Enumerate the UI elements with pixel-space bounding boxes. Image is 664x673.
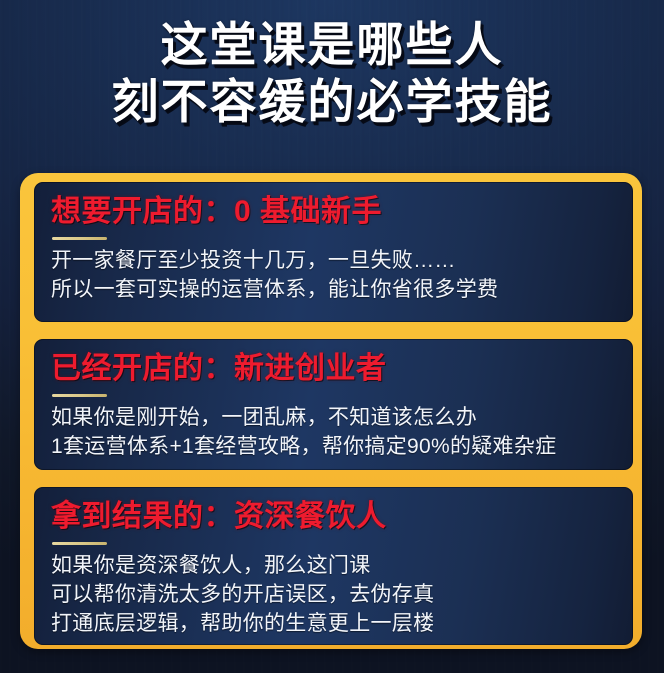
audience-card-1-body: 开一家餐厅至少投资十几万，一旦失败…… 所以一套可实操的运营体系，能让你省很多学… [51, 246, 619, 304]
audience-card-1: 想要开店的：0 基础新手 开一家餐厅至少投资十几万，一旦失败…… 所以一套可实操… [34, 182, 633, 322]
audience-card-3-line-2: 可以帮你清洗太多的开店误区，去伪存真 [51, 580, 619, 609]
promo-poster: 这堂课是哪些人 刻不容缓的必学技能 想要开店的：0 基础新手 开一家餐厅至少投资… [0, 0, 664, 673]
audience-card-1-line-2: 所以一套可实操的运营体系，能让你省很多学费 [51, 275, 619, 304]
audience-card-2-body: 如果你是刚开始，一团乱麻，不知道该怎么办 1套运营体系+1套经营攻略，帮你搞定9… [51, 403, 619, 461]
page-title: 这堂课是哪些人 刻不容缓的必学技能 [0, 0, 664, 130]
audience-card-2-line-1: 如果你是刚开始，一团乱麻，不知道该怎么办 [51, 403, 619, 432]
headline-line-1: 这堂课是哪些人 [0, 16, 664, 73]
audience-card-1-line-1: 开一家餐厅至少投资十几万，一旦失败…… [51, 246, 619, 275]
audience-card-3-body: 如果你是资深餐饮人，那么这门课 可以帮你清洗太多的开店误区，去伪存真 打通底层逻… [51, 551, 619, 638]
audience-card-3-heading: 拿到结果的：资深餐饮人 [51, 498, 619, 536]
audience-card-frame: 想要开店的：0 基础新手 开一家餐厅至少投资十几万，一旦失败…… 所以一套可实操… [20, 173, 642, 649]
audience-card-2-line-2: 1套运营体系+1套经营攻略，帮你搞定90%的疑难杂症 [51, 432, 619, 461]
audience-card-3: 拿到结果的：资深餐饮人 如果你是资深餐饮人，那么这门课 可以帮你清洗太多的开店误… [34, 487, 633, 645]
audience-card-1-heading: 想要开店的：0 基础新手 [51, 193, 619, 231]
audience-card-3-divider [52, 542, 107, 545]
headline-line-2: 刻不容缓的必学技能 [0, 73, 664, 130]
audience-card-2-divider [52, 394, 107, 397]
audience-card-2: 已经开店的：新进创业者 如果你是刚开始，一团乱麻，不知道该怎么办 1套运营体系+… [34, 339, 633, 470]
audience-card-1-divider [52, 237, 107, 240]
audience-card-2-heading: 已经开店的：新进创业者 [51, 350, 619, 388]
audience-card-3-line-3: 打通底层逻辑，帮助你的生意更上一层楼 [51, 609, 619, 638]
audience-card-3-line-1: 如果你是资深餐饮人，那么这门课 [51, 551, 619, 580]
